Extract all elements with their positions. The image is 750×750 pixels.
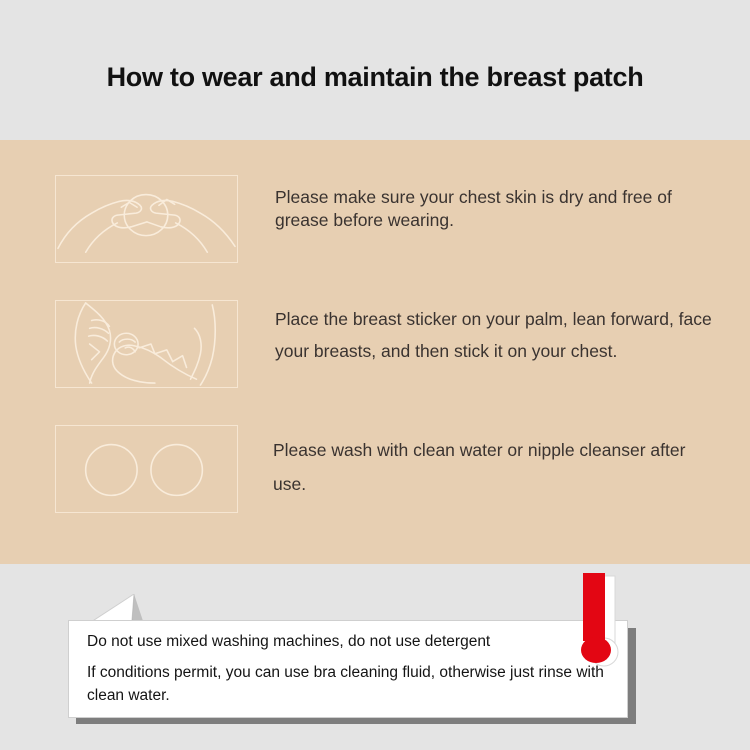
callout-line: If conditions permit, you can use bra cl… (87, 662, 613, 707)
two-patches-icon (55, 425, 238, 513)
step-item: Place the breast sticker on your palm, l… (0, 300, 750, 388)
callout-line: Do not use mixed washing machines, do no… (87, 631, 613, 653)
step-item: Please make sure your chest skin is dry … (0, 175, 750, 263)
page-title: How to wear and maintain the breast patc… (0, 62, 750, 93)
instruction-infographic: How to wear and maintain the breast patc… (0, 0, 750, 750)
step-text: Please wash with clean water or nipple c… (273, 433, 750, 501)
step-text: Place the breast sticker on your palm, l… (275, 303, 750, 368)
hands-applying-patch-icon (55, 175, 238, 263)
step-text: Please make sure your chest skin is dry … (275, 186, 750, 232)
step-item: Please wash with clean water or nipple c… (0, 425, 750, 513)
callout-body: Do not use mixed washing machines, do no… (87, 631, 613, 707)
exclamation-mark-icon (578, 568, 622, 672)
lean-forward-apply-icon (55, 300, 238, 388)
header-band: How to wear and maintain the breast patc… (0, 0, 750, 140)
warning-callout: Do not use mixed washing machines, do no… (68, 620, 628, 718)
steps-band: Please make sure your chest skin is dry … (0, 140, 750, 564)
